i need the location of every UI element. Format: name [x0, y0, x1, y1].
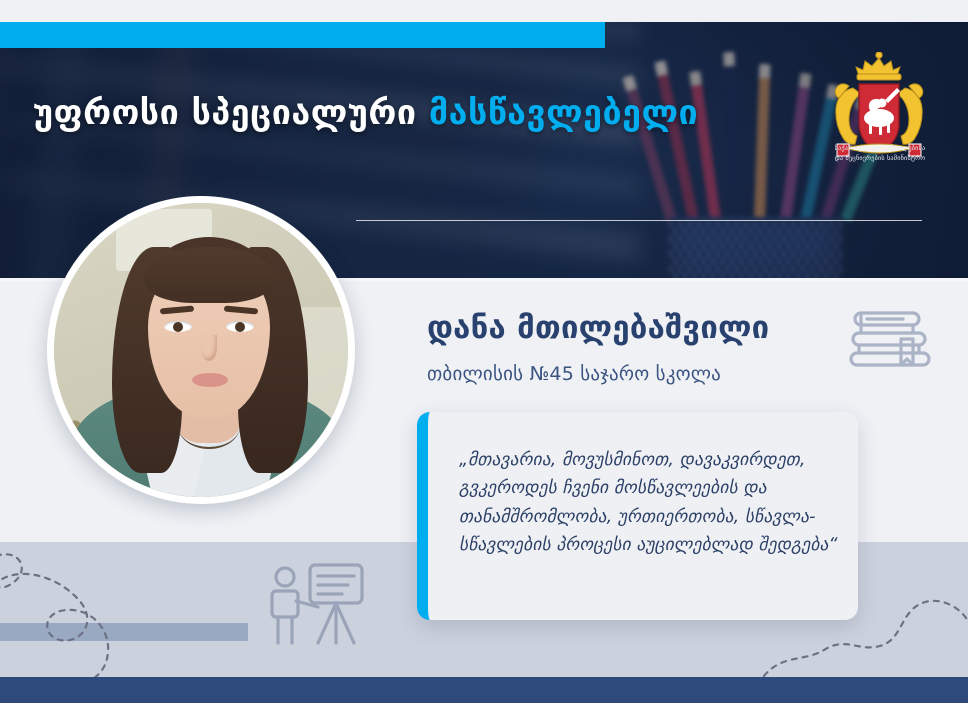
quote-card: „მთავარია, მოვუსმინოთ, დავაკვირდეთ, გვკე… — [417, 412, 858, 620]
teacher-at-board-icon — [268, 561, 372, 647]
page-title-plain: უფროსი სპეციალური — [33, 93, 429, 133]
quote-text: „მთავარია, მოვუსმინოთ, დავაკვირდეთ, გვკე… — [459, 446, 851, 559]
page-title-accent: მასწავლებელი — [429, 93, 698, 133]
page-title: უფროსი სპეციალური მასწავლებელი — [33, 93, 698, 133]
ministry-caption: საქართველოს განათლებისა და მეცნიერების ს… — [816, 144, 944, 163]
hero-divider-line — [356, 220, 922, 221]
stacked-books-icon — [845, 303, 937, 383]
ministry-caption-line2: და მეცნიერების სამინისტრო — [816, 154, 944, 164]
ministry-caption-line1: საქართველოს განათლებისა — [816, 144, 944, 154]
dashed-squiggle-decoration-left — [0, 548, 270, 678]
footer-navy-bar — [0, 677, 968, 703]
person-school: თბილისის №45 საჯარო სკოლა — [427, 363, 721, 385]
person-name: დანა მთილებაშვილი — [427, 310, 769, 346]
avatar — [47, 196, 355, 504]
cyan-accent-bar — [0, 22, 605, 48]
poster-canvas: უფროსი სპეციალური მასწავლებელი — [0, 0, 968, 703]
